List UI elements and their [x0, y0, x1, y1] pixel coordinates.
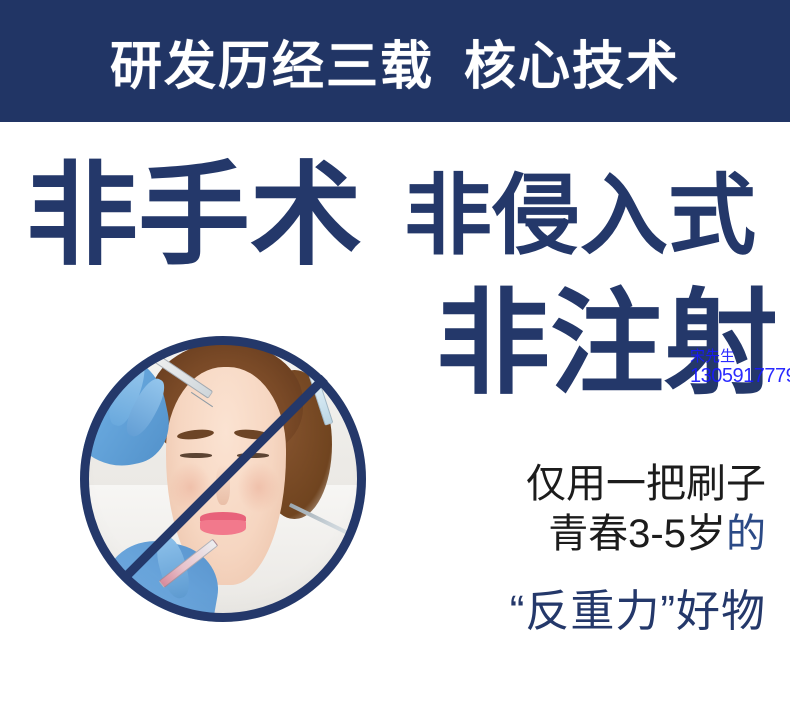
page-title: 研发历经三载 核心技术 [0, 0, 790, 122]
copy-line-youth-main: 青春3-5岁 [548, 512, 726, 556]
copy-line-brush: 仅用一把刷子 [446, 460, 766, 510]
headline-non-surgical: 非手术 [26, 160, 362, 272]
promo-poster: 研发历经三载 核心技术 非手术 非侵入式 非注射 [0, 0, 790, 726]
headline-non-invasive: 非侵入式 [404, 172, 756, 260]
copy-line-youth: 青春3-5岁的 [446, 510, 766, 560]
copy-line-antigravity: “反重力”好物 [446, 585, 766, 640]
copy-line-youth-accent: 的 [726, 512, 766, 556]
copy-block: 仅用一把刷子 青春3-5岁的 “反重力”好物 [446, 460, 766, 640]
headline-non-injection: 非注射 [436, 288, 778, 402]
no-injection-figure [80, 336, 366, 622]
